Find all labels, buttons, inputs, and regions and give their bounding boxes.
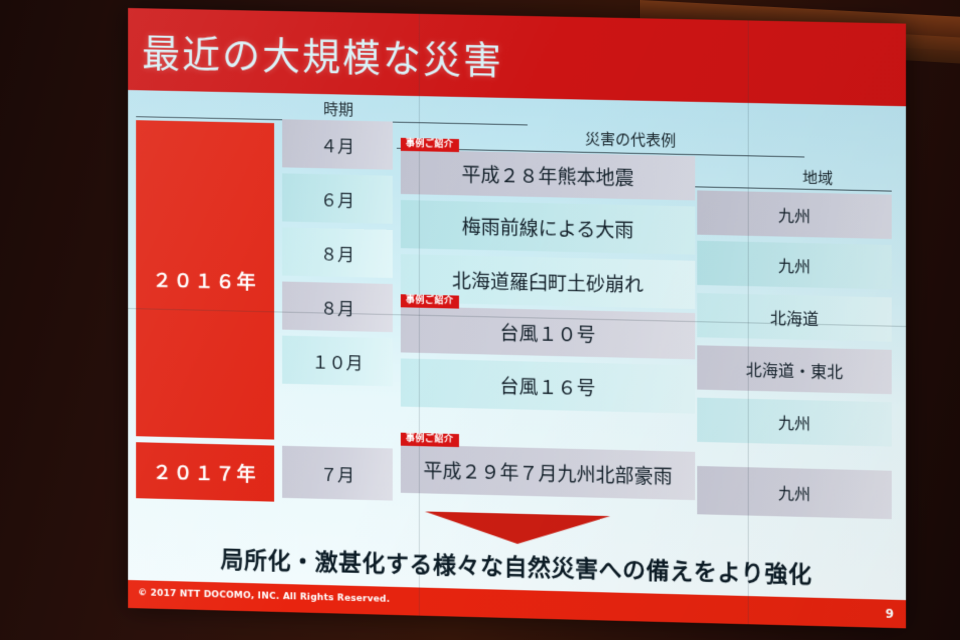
- cell-event-wrap: 平成２８年熊本地震: [401, 150, 695, 201]
- page-number: 9: [885, 607, 893, 621]
- header-region: 地域: [772, 166, 863, 189]
- badge-case-study: 事例ご紹介: [401, 138, 459, 152]
- down-arrow-icon: [425, 511, 610, 546]
- cell-region: 九州: [778, 410, 810, 435]
- cell-region: 九州: [778, 202, 810, 227]
- year-group-2016-label: ２０１６年: [152, 265, 257, 294]
- table-row: ４月: [282, 119, 392, 169]
- table-row: １０月: [282, 336, 392, 387]
- year-group-2017-label: ２０１７年: [152, 457, 257, 487]
- cell-event-wrap: 梅雨前線による大雨: [401, 200, 695, 255]
- cell-event-wrap: 台風１０号: [401, 306, 695, 359]
- cell-region-wrap: 九州: [697, 190, 892, 239]
- cell-month: ６月: [320, 186, 354, 212]
- cell-event-wrap: 平成２９年７月九州北部豪雨: [401, 445, 695, 500]
- cell-region-wrap: 九州: [697, 466, 892, 519]
- cell-event: 平成２８年熊本地震: [462, 160, 634, 191]
- table-row: ８月: [282, 227, 392, 278]
- cell-event-wrap: 台風１６号: [401, 358, 695, 413]
- header-period: 時期: [278, 97, 398, 121]
- cell-event: 台風１６号: [500, 371, 596, 400]
- cell-region-wrap: 北海道・東北: [697, 345, 892, 394]
- cell-event: 平成２９年７月九州北部豪雨: [423, 456, 672, 489]
- badge-case-study: 事例ご紹介: [401, 433, 459, 447]
- presentation-slide: 最近の大規模な災害 時期 災害の代表例 地域 ２０１６年 ２０１７年 ４月 事例…: [128, 8, 906, 628]
- cell-event: 北海道羅臼町土砂崩れ: [452, 266, 644, 297]
- year-group-2017: ２０１７年: [136, 442, 274, 501]
- cell-region-wrap: 九州: [697, 241, 892, 290]
- projection-screen: 最近の大規模な災害 時期 災害の代表例 地域 ２０１６年 ２０１７年 ４月 事例…: [0, 0, 960, 640]
- cell-event: 梅雨前線による大雨: [462, 212, 634, 243]
- copyright-text: © 2017 NTT DOCOMO, INC. All Rights Reser…: [138, 588, 390, 605]
- table-row: ８月: [282, 282, 392, 333]
- table-row: ７月: [282, 446, 392, 501]
- header-example: 災害の代表例: [530, 127, 732, 152]
- cell-event: 台風１０号: [500, 318, 596, 347]
- cell-month: １０月: [312, 348, 363, 374]
- cell-region: 北海道・東北: [746, 356, 843, 382]
- cell-month: ４月: [320, 132, 354, 158]
- cell-month: ７月: [320, 460, 354, 486]
- cell-region: 北海道: [770, 305, 819, 330]
- table-row: ６月: [282, 173, 392, 224]
- cell-region-wrap: 九州: [697, 398, 892, 447]
- cell-month: ８月: [320, 294, 354, 320]
- badge-case-study: 事例ご紹介: [401, 294, 459, 308]
- slide-body: 時期 災害の代表例 地域 ２０１６年 ２０１７年 ４月 事例ご紹介 平成２８年熊…: [128, 90, 906, 600]
- cell-region-wrap: 北海道: [697, 293, 892, 342]
- cell-month: ８月: [320, 240, 354, 266]
- cell-region: 九州: [778, 480, 810, 505]
- year-group-2016: ２０１６年: [136, 120, 274, 439]
- slide-title: 最近の大規模な災害: [142, 22, 503, 85]
- cell-region: 九州: [778, 253, 810, 278]
